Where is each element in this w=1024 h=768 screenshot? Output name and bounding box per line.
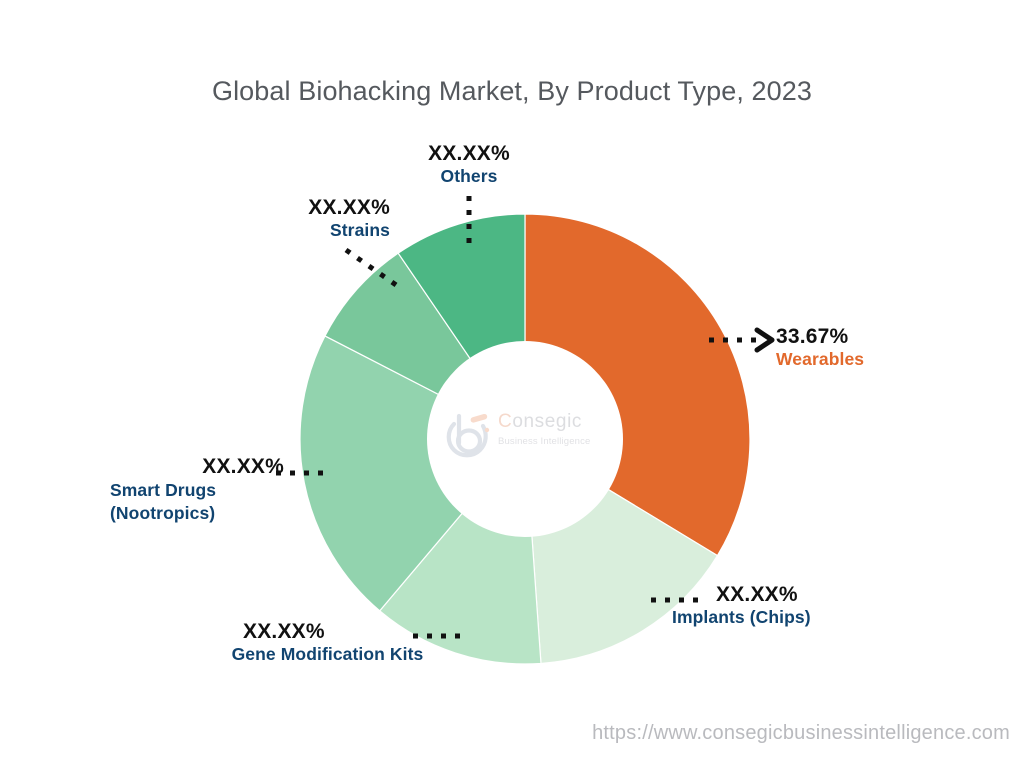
callout-implants-value: XX.XX%	[672, 583, 922, 607]
callout-wearables: 33.67% Wearables	[776, 325, 1006, 370]
callout-smart-drugs-label-line1: Smart Drugs	[110, 479, 290, 501]
leader-arrow-wearables	[757, 330, 772, 350]
callout-others-label: Others	[374, 166, 564, 186]
callout-smart-drugs: XX.XX% Smart Drugs (Nootropics)	[110, 455, 290, 524]
callout-implants-label: Implants (Chips)	[672, 607, 922, 627]
callout-strains: XX.XX% Strains	[215, 196, 390, 241]
donut-hole	[427, 341, 623, 537]
callout-gene-kits-label: Gene Modification Kits	[175, 644, 480, 664]
callout-gene-kits: XX.XX% Gene Modification Kits	[175, 620, 480, 665]
callout-strains-label: Strains	[215, 220, 390, 240]
callout-smart-drugs-label-line2: (Nootropics)	[110, 502, 290, 524]
page-title: Global Biohacking Market, By Product Typ…	[0, 76, 1024, 107]
chart-page: Global Biohacking Market, By Product Typ…	[0, 0, 1024, 768]
callout-gene-kits-value: XX.XX%	[175, 620, 480, 644]
callout-wearables-value: 33.67%	[776, 325, 1006, 349]
footer-url: https://www.consegicbusinessintelligence…	[0, 722, 1010, 745]
callout-strains-value: XX.XX%	[215, 196, 390, 220]
callout-implants: XX.XX% Implants (Chips)	[672, 583, 922, 628]
callout-smart-drugs-value: XX.XX%	[110, 455, 290, 479]
callout-wearables-label: Wearables	[776, 349, 1006, 369]
callout-others: XX.XX% Others	[374, 142, 564, 187]
callout-others-value: XX.XX%	[374, 142, 564, 166]
